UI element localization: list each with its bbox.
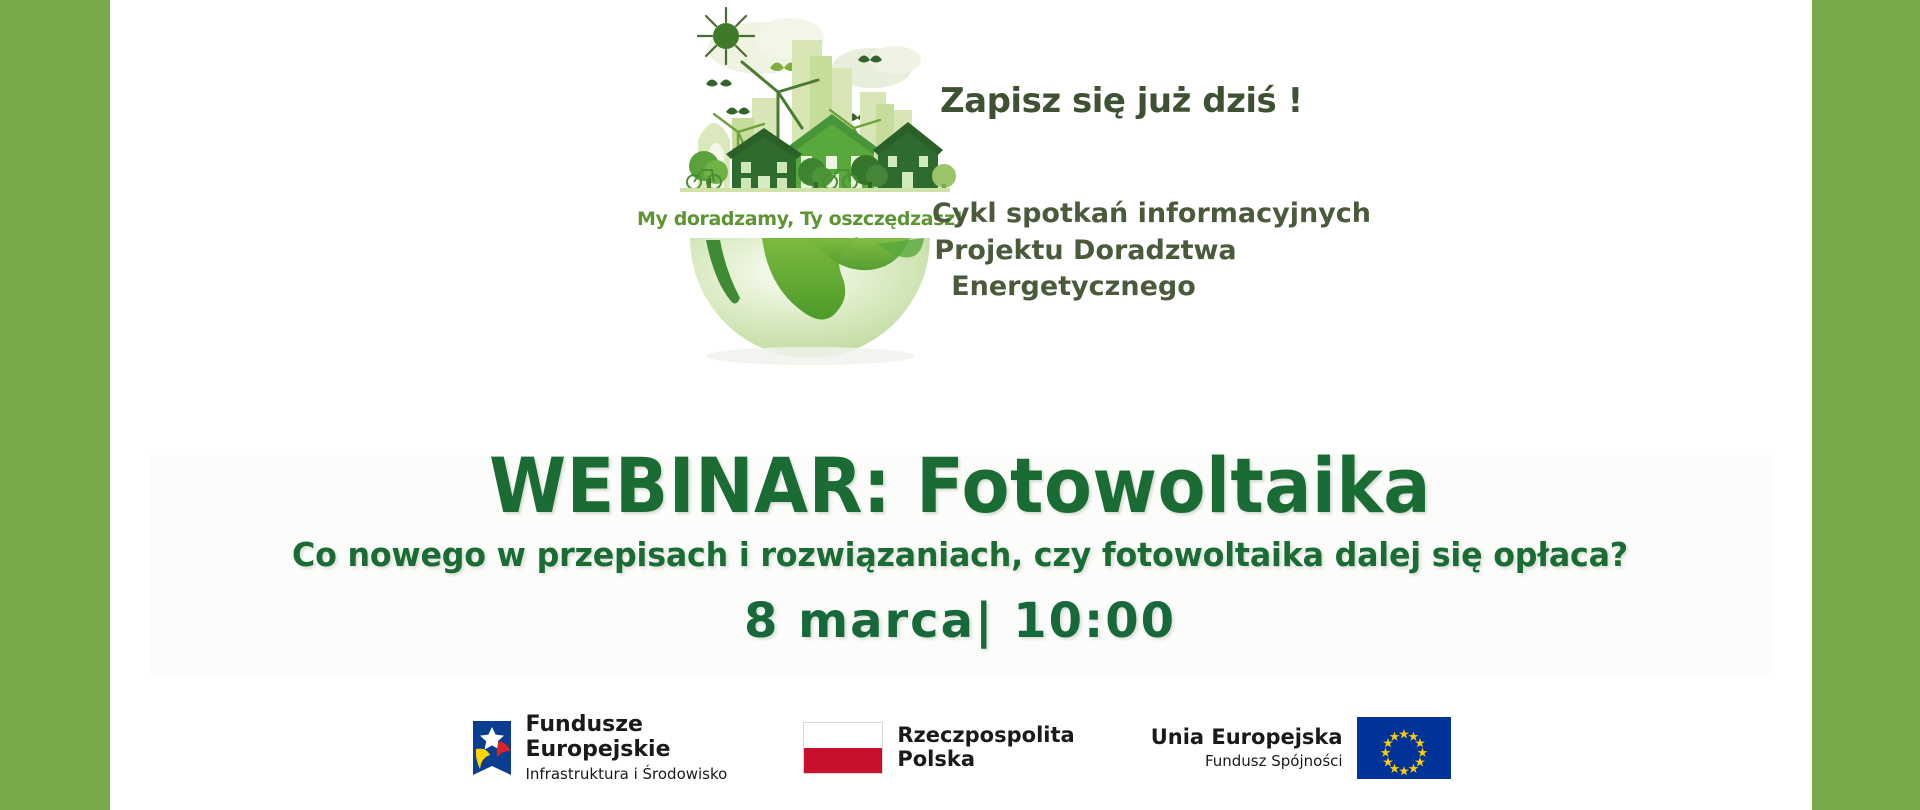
fundusze-europejskie-logo: Fundusze Europejskie Infrastruktura i Śr… — [471, 713, 727, 782]
unia-europejska-line-2: Fundusz Spójności — [1151, 753, 1343, 770]
unia-europejska-text: Unia Europejska Fundusz Spójności — [1151, 726, 1343, 769]
left-green-band — [0, 0, 110, 810]
fundusze-europejskie-text: Fundusze Europejskie Infrastruktura i Śr… — [525, 713, 727, 782]
event-datetime: 8 marca| 10:00 — [0, 593, 1920, 649]
logo-subtitle-line-2: Projektu Doradztwa — [932, 233, 1277, 269]
page-subtitle: Co nowego w przepisach i rozwiązaniach, … — [38, 535, 1881, 574]
page-title: WEBINAR: Fotowoltaika — [77, 448, 1843, 524]
fundusze-europejskie-star-mark-icon — [471, 719, 513, 777]
logo-subtitle-line-1: Cykl spotkań informacyjnych — [932, 196, 1277, 232]
rzeczpospolita-polska-line-1: Rzeczpospolita — [897, 724, 1074, 748]
eu-flag-icon — [1357, 717, 1451, 779]
logo-text-block: Zapisz się już dziś ! Cykl spotkań infor… — [940, 82, 1290, 305]
rzeczpospolita-polska-logo: Rzeczpospolita Polska — [803, 722, 1074, 774]
polish-flag-icon — [803, 722, 883, 774]
eco-city-globe-illustration-icon — [640, 0, 980, 410]
right-green-band — [1812, 0, 1920, 810]
fundusze-europejskie-line-3: Infrastruktura i Środowisko — [525, 766, 727, 783]
webinar-poster: My doradzamy, Ty oszczędzasz! Zapisz się… — [0, 0, 1920, 810]
logo-subtitle-block: Cykl spotkań informacyjnych Projektu Dor… — [932, 196, 1277, 305]
fundusze-europejskie-line-1: Fundusze — [525, 713, 727, 738]
fundusze-europejskie-line-2: Europejskie — [525, 738, 727, 763]
eu-funding-logo-strip: Fundusze Europejskie Infrastruktura i Śr… — [110, 698, 1812, 798]
logo-tagline: My doradzamy, Ty oszczędzasz! — [620, 208, 980, 230]
unia-europejska-line-1: Unia Europejska — [1151, 726, 1343, 750]
program-logo: My doradzamy, Ty oszczędzasz! Zapisz się… — [640, 0, 1280, 410]
rzeczpospolita-polska-text: Rzeczpospolita Polska — [897, 724, 1074, 771]
unia-europejska-logo: Unia Europejska Fundusz Spójności — [1151, 717, 1451, 779]
rzeczpospolita-polska-line-2: Polska — [897, 748, 1074, 772]
logo-subtitle-line-3: Energetycznego — [932, 269, 1277, 305]
logo-cta-text: Zapisz się już dziś ! — [940, 82, 1290, 121]
